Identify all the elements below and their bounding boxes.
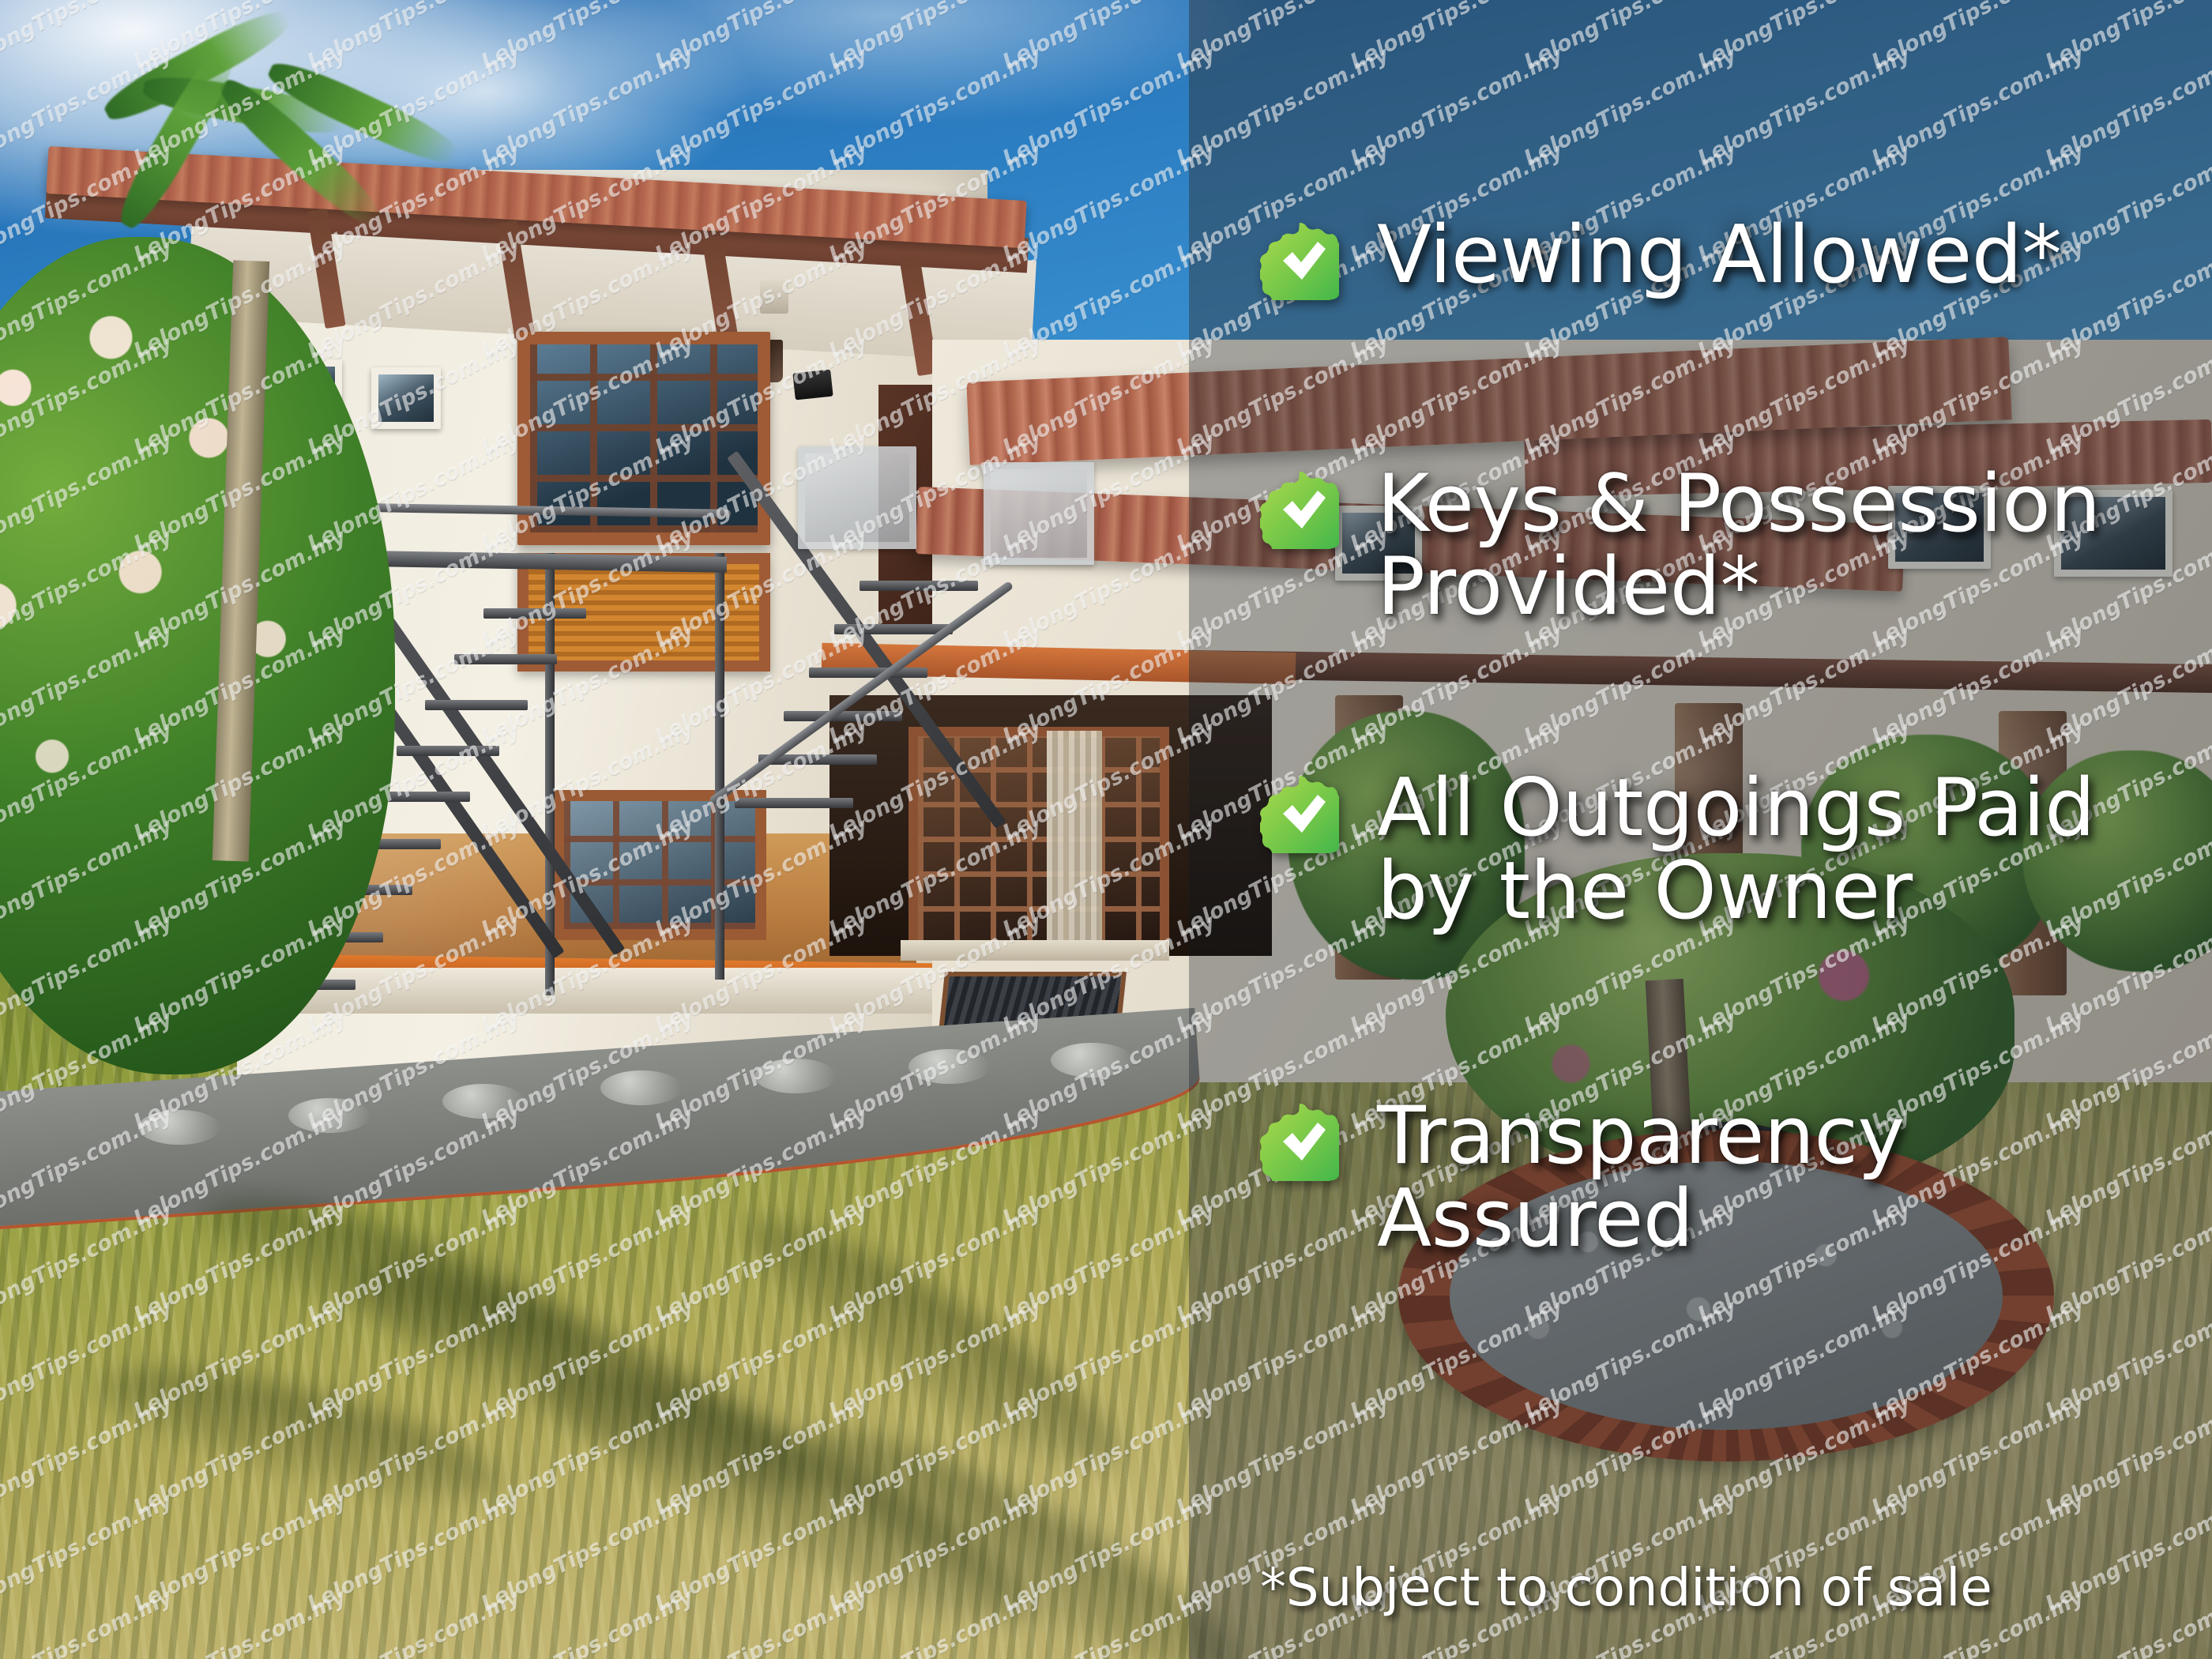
feature-label: All Outgoings Paid by the Owner [1377, 766, 2095, 932]
plinth-cap [229, 968, 940, 1014]
feature-label: Keys & Possession Provided* [1377, 462, 2101, 628]
balcony-grille [798, 446, 916, 549]
entrance-curtain [1047, 731, 1102, 952]
green-check-badge-icon [1260, 1102, 1339, 1181]
stair-tread [809, 668, 927, 678]
stepping-stone [600, 1070, 683, 1105]
stepping-stone [1051, 1043, 1133, 1078]
feature-label: Transparency Assured [1377, 1094, 1905, 1260]
security-light [792, 370, 833, 401]
upper-window-small [371, 367, 441, 429]
stair-tread [784, 711, 902, 721]
entrance-steps [901, 940, 1169, 961]
ground-window [553, 790, 766, 940]
wall-fitting [760, 280, 788, 314]
features-panel: Viewing Allowed* Keys & Possession Provi… [1189, 0, 2212, 1659]
green-check-badge-icon [1260, 221, 1339, 300]
stair-tread [425, 700, 528, 710]
banner-canvas: LelongTips.com.myLelongTips.com.myLelong… [0, 0, 2212, 1659]
feature-transparency-assured[interactable]: Transparency Assured [1260, 1094, 2192, 1260]
green-check-badge-icon [1260, 774, 1339, 853]
stair-tread [397, 746, 499, 756]
stair-tread [860, 581, 978, 591]
stepping-stone [138, 1110, 220, 1145]
stepping-stone [288, 1098, 371, 1133]
stair-post [715, 553, 724, 980]
stair-tread [735, 798, 853, 808]
stepping-stone [908, 1049, 991, 1084]
balcony-grille [984, 462, 1094, 565]
stair-tread [454, 654, 557, 664]
footnote-disclaimer: *Subject to condition of sale [1260, 1557, 1992, 1618]
feature-label: Viewing Allowed* [1377, 213, 2061, 296]
stepping-stone [754, 1059, 837, 1093]
feature-viewing-allowed[interactable]: Viewing Allowed* [1260, 213, 2192, 300]
feature-outgoings-paid[interactable]: All Outgoings Paid by the Owner [1260, 766, 2208, 932]
feature-keys-possession[interactable]: Keys & Possession Provided* [1260, 462, 2192, 628]
stair-tread [483, 608, 586, 619]
green-check-badge-icon [1260, 470, 1339, 549]
stepping-stone [442, 1084, 525, 1119]
